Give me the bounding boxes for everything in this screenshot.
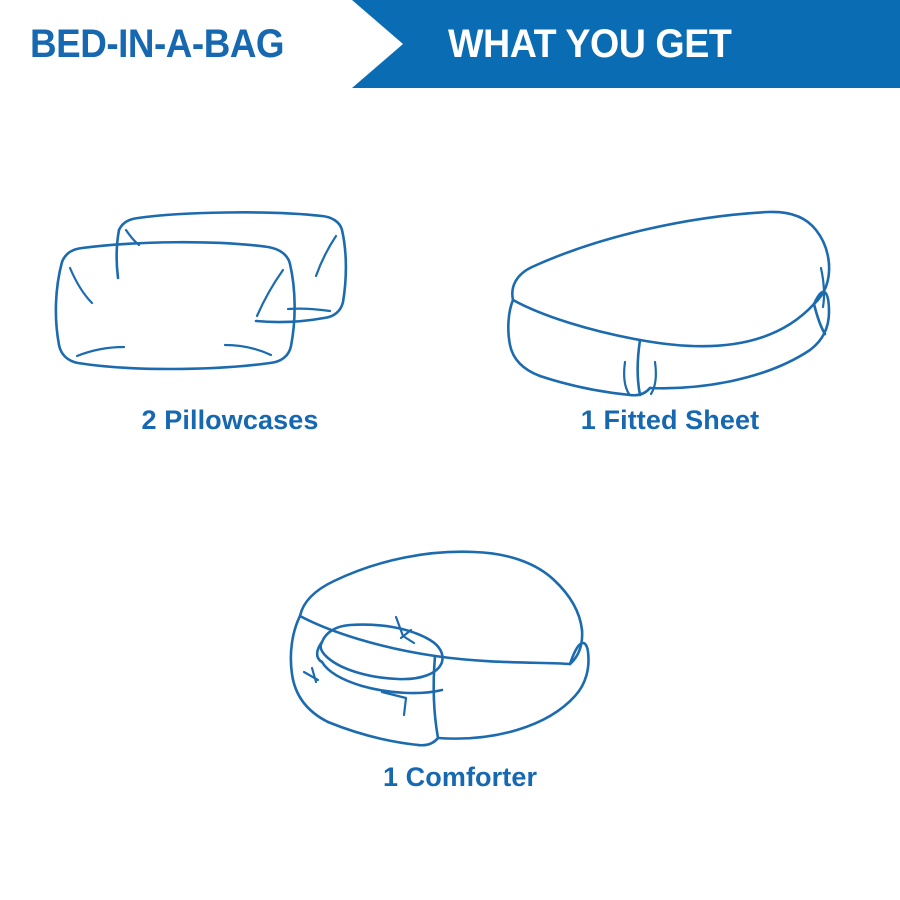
folded-comforter-line-art-icon	[270, 540, 650, 760]
caption-comforter: 1 Comforter	[270, 762, 650, 793]
banner-left-title: BED-IN-A-BAG	[30, 0, 284, 88]
item-fitted-sheet: 1 Fitted Sheet	[480, 190, 860, 460]
fitted-sheet-mattress-line-art-icon	[480, 190, 860, 405]
infographic-page: BED-IN-A-BAG WHAT YOU GET 2 Pillowcases	[0, 0, 900, 900]
banner-right-title: WHAT YOU GET	[448, 0, 731, 88]
caption-pillowcases: 2 Pillowcases	[40, 405, 420, 436]
item-comforter: 1 Comforter	[270, 540, 650, 810]
two-pillows-line-art-icon	[40, 190, 420, 405]
item-pillowcases: 2 Pillowcases	[40, 190, 420, 460]
caption-fitted-sheet: 1 Fitted Sheet	[480, 405, 860, 436]
header-banner: BED-IN-A-BAG WHAT YOU GET	[0, 0, 900, 88]
